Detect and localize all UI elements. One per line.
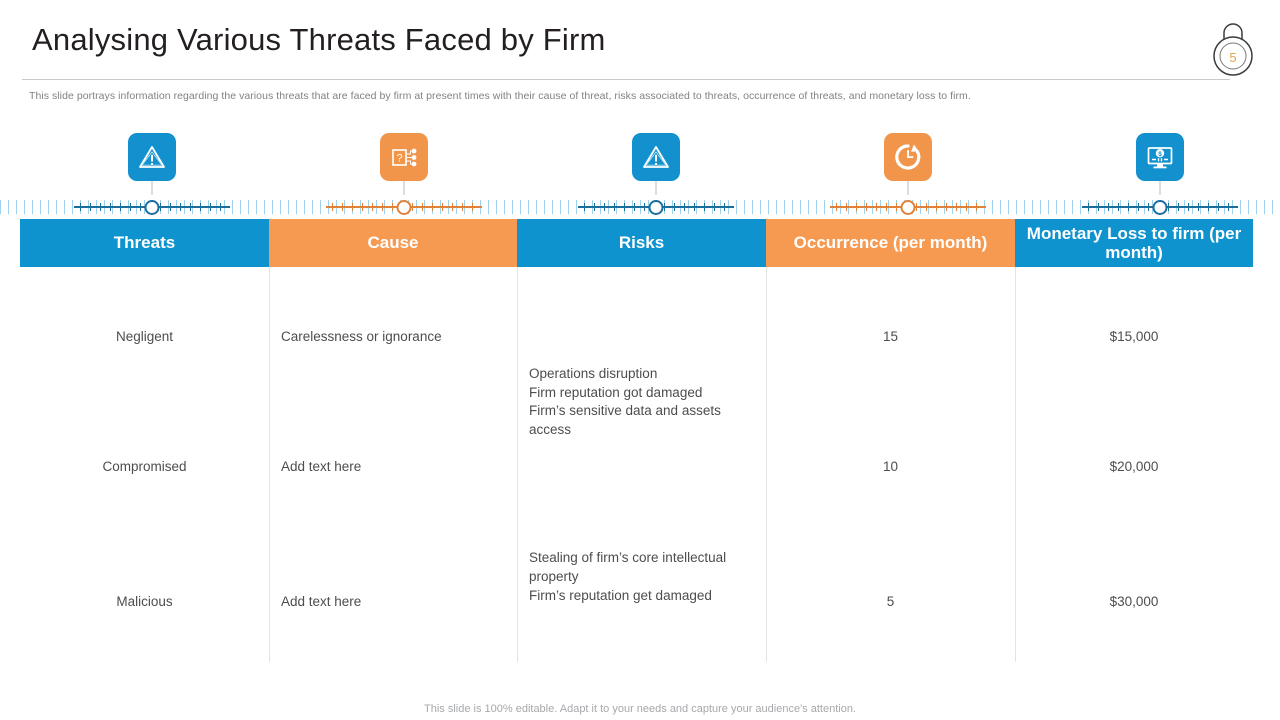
lock-badge-number: 5 (1206, 14, 1260, 80)
cell-occurrence: 5 (766, 527, 1015, 662)
table-row: Compromised Add text here Firm’s sensiti… (20, 392, 1253, 527)
ruler-node-3[interactable] (649, 200, 664, 215)
warning-triangle-icon-1[interactable] (128, 133, 176, 181)
cell-risks: Stealing of firm’s core intellectual pro… (517, 527, 766, 662)
ruler-node-2[interactable] (397, 200, 412, 215)
icon-stem-3 (656, 181, 657, 195)
cell-monetary-loss: $15,000 (1015, 267, 1253, 392)
column-header-monetary-loss: Monetary Loss to firm (per month) (1015, 219, 1253, 267)
cell-threat: Compromised (20, 392, 269, 527)
column-header-risks: Risks (517, 219, 766, 267)
cell-monetary-loss: $30,000 (1015, 527, 1253, 662)
column-header-occurrence: Occurrence (per month) (766, 219, 1015, 267)
cell-threat: Malicious (20, 527, 269, 662)
cell-occurrence: 15 (766, 267, 1015, 392)
cell-monetary-loss: $20,000 (1015, 392, 1253, 527)
svg-text:?: ? (396, 153, 402, 165)
ruler-node-5[interactable] (1153, 200, 1168, 215)
threats-table: Threats Cause Risks Occurrence (per mont… (20, 219, 1253, 662)
warning-triangle-icon-2[interactable] (632, 133, 680, 181)
cell-cause: Add text here (269, 392, 517, 527)
page-title: Analysing Various Threats Faced by Firm (32, 22, 606, 58)
icon-stem-4 (908, 181, 909, 195)
lock-icon: 5 (1206, 14, 1260, 80)
slide-subtitle: This slide portrays information regardin… (29, 90, 1149, 102)
table-row: Negligent Carelessness or ignorance Oper… (20, 267, 1253, 392)
column-header-threats: Threats (20, 219, 269, 267)
cell-risks: Operations disruption Firm reputation go… (517, 267, 766, 392)
icon-stem-1 (152, 181, 153, 195)
question-box-network-icon[interactable]: ? (380, 133, 428, 181)
ruler-node-1[interactable] (145, 200, 160, 215)
table-body: Negligent Carelessness or ignorance Oper… (20, 267, 1253, 662)
footer-note: This slide is 100% editable. Adapt it to… (0, 703, 1280, 715)
cell-risks: Firm’s sensitive data and assets access (517, 392, 766, 527)
cell-threat: Negligent (20, 267, 269, 392)
monitor-dollar-icon[interactable]: $ (1136, 133, 1184, 181)
slide-root: Analysing Various Threats Faced by Firm … (0, 0, 1280, 720)
cell-cause: Add text here (269, 527, 517, 662)
refresh-clock-icon[interactable] (884, 133, 932, 181)
ruler-node-4[interactable] (901, 200, 916, 215)
title-divider (22, 79, 1230, 80)
cell-occurrence: 10 (766, 392, 1015, 527)
icon-stem-5 (1160, 181, 1161, 195)
table-header-row: Threats Cause Risks Occurrence (per mont… (20, 219, 1253, 267)
cell-cause: Carelessness or ignorance (269, 267, 517, 392)
icon-stem-2 (404, 181, 405, 195)
svg-text:$: $ (1158, 151, 1162, 158)
icon-strip: ? (0, 133, 1280, 195)
column-header-cause: Cause (269, 219, 517, 267)
table-row: Malicious Add text here Stealing of firm… (20, 527, 1253, 662)
